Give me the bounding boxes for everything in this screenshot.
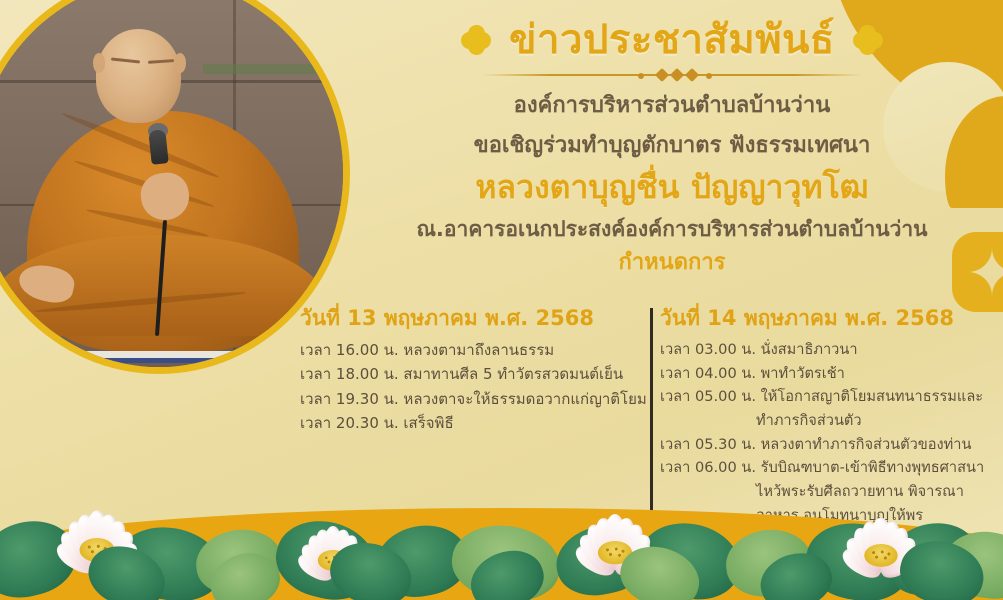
list-item: เวลา 04.00 น. พาทำวัตรเช้า [660, 362, 990, 386]
list-item: เวลา 19.30 น. หลวงตาจะให้ธรรมดอวากแก่ญาต… [300, 387, 628, 411]
main-title-row: ข่าวประชาสัมพันธ์ [352, 18, 992, 62]
list-item: เวลา 18.00 น. สมาทานศีล 5 ทำวัตรสวดมนต์เ… [300, 362, 628, 386]
monk-ear [93, 53, 105, 73]
quatrefoil-ornament-icon [853, 25, 883, 55]
page-title: ข่าวประชาสัมพันธ์ [509, 18, 835, 62]
microphone-body [148, 130, 168, 166]
underline-diamond [655, 68, 669, 82]
monk-portrait-photo [0, 0, 350, 374]
agenda-label: กำหนดการ [352, 249, 992, 278]
venue-text: ณ.อาคารอเนกประสงค์องค์การบริหารส่วนตำบลบ… [352, 214, 992, 244]
list-item-continuation: ทำภารกิจส่วนตัว [660, 409, 990, 433]
wall-accent [203, 64, 343, 74]
list-item: เวลา 05.00 น. ให้โอกาสญาติโยมสนทนาธรรมแล… [660, 385, 990, 409]
invitation-text: ขอเชิญร่วมทำบุญตักบาตร ฟังธรรมเทศนา [352, 130, 992, 162]
title-underline-ornament [482, 68, 862, 82]
underline-dot [706, 73, 712, 79]
organization-name: องค์การบริหารส่วนตำบลบ้านว่าน [352, 90, 992, 122]
monk-ear [174, 53, 186, 73]
day1-item-list: เวลา 16.00 น. หลวงตามาถึงลานธรรม เวลา 18… [300, 338, 628, 435]
underline-dot [638, 73, 644, 79]
list-item: เวลา 16.00 น. หลวงตามาถึงลานธรรม [300, 338, 628, 362]
list-item: เวลา 03.00 น. นั่งสมาธิภาวนา [660, 338, 990, 362]
day2-heading: วันที่ 14 พฤษภาคม พ.ศ. 2568 [660, 306, 990, 331]
book-spine [41, 358, 277, 363]
list-item: เวลา 06.00 น. รับบิณฑบาต-เข้าพิธีทางพุทธ… [660, 456, 990, 480]
monk-head [96, 29, 181, 122]
poster-header: ข่าวประชาสัมพันธ์ องค์การบริหารส่วนตำบลบ… [352, 18, 992, 277]
quatrefoil-ornament-icon [461, 25, 491, 55]
list-item: เวลา 20.30 น. เสร็จพิธี [300, 411, 628, 435]
poster-canvas: ข่าวประชาสัมพันธ์ องค์การบริหารส่วนตำบลบ… [0, 0, 1003, 600]
monk-photo-image [0, 0, 343, 367]
lotus-seed-pod [864, 544, 897, 567]
underline-diamond [670, 68, 684, 82]
monk-name: หลวงตาบุญชื่น ปัญญาวุทโฒ [352, 168, 992, 206]
day1-heading: วันที่ 13 พฤษภาคม พ.ศ. 2568 [300, 306, 628, 331]
underline-diamond [685, 68, 699, 82]
bottom-lotus-band [0, 485, 1003, 600]
list-item: เวลา 05.30 น. หลวงตาทำภารกิจส่วนตัวของท่… [660, 433, 990, 457]
